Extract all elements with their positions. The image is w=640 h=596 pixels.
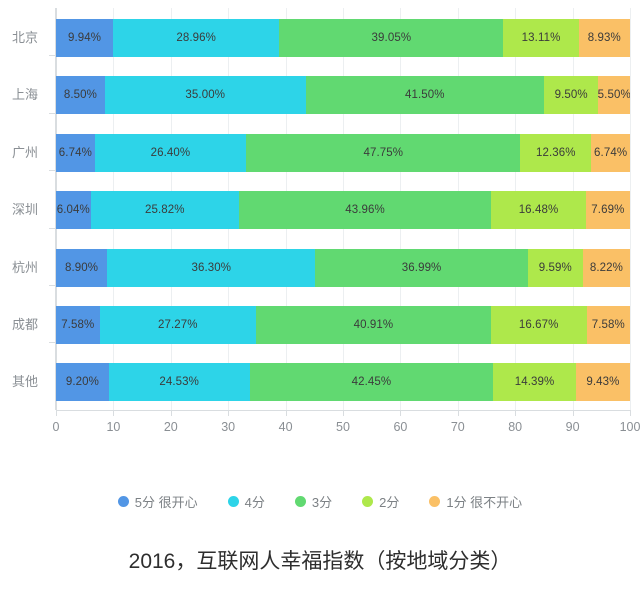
bar-value-label: 6.74% <box>594 147 627 159</box>
bar-value-label: 40.91% <box>354 319 394 331</box>
legend-label: 5分 很开心 <box>135 492 198 511</box>
category-labels: 北京上海广州深圳杭州成都其他 <box>0 8 50 410</box>
legend-label: 1分 很不开心 <box>446 492 522 511</box>
x-axis-tick-label: 10 <box>106 420 120 434</box>
bar-value-label: 7.69% <box>591 204 624 216</box>
legend-swatch-icon <box>118 496 129 507</box>
bar-segment[interactable]: 35.00% <box>105 76 306 114</box>
bar-row: 8.90%36.30%36.99%9.59%8.22% <box>56 249 630 287</box>
category-label-4: 深圳 <box>12 191 38 229</box>
gridline <box>630 8 631 410</box>
bar-segment[interactable]: 28.96% <box>113 19 279 57</box>
bar-row: 7.58%27.27%40.91%16.67%7.58% <box>56 306 630 344</box>
x-axis-tick <box>171 410 172 416</box>
bar-value-label: 43.96% <box>345 204 385 216</box>
bar-segment[interactable]: 36.30% <box>107 249 315 287</box>
legend-swatch-icon <box>295 496 306 507</box>
bar-row: 6.04%25.82%43.96%16.48%7.69% <box>56 191 630 229</box>
bar-segment[interactable]: 8.22% <box>583 249 630 287</box>
bar-value-label: 9.50% <box>555 89 588 101</box>
x-axis-tick <box>573 410 574 416</box>
bar-segment[interactable]: 9.20% <box>56 363 109 401</box>
bar-segment[interactable]: 39.05% <box>279 19 503 57</box>
bar-value-label: 36.99% <box>402 262 442 274</box>
bar-value-label: 24.53% <box>159 376 199 388</box>
y-axis-tick <box>49 113 56 114</box>
bar-value-label: 8.50% <box>64 89 97 101</box>
y-axis-tick <box>49 342 56 343</box>
legend-swatch-icon <box>362 496 373 507</box>
x-axis-tick <box>515 410 516 416</box>
x-axis-tick <box>56 410 57 416</box>
x-axis-tick-label: 50 <box>336 420 350 434</box>
bar-value-label: 35.00% <box>185 89 225 101</box>
bar-segment[interactable]: 24.53% <box>109 363 250 401</box>
x-axis-tick-label: 30 <box>221 420 235 434</box>
bar-value-label: 25.82% <box>145 204 185 216</box>
plot-region: 北京上海广州深圳杭州成都其他 9.94%28.96%39.05%13.11%8.… <box>0 0 640 420</box>
category-label-5: 杭州 <box>12 249 38 287</box>
x-axis-tick-label: 60 <box>393 420 407 434</box>
bar-value-label: 9.43% <box>586 376 619 388</box>
bar-segment[interactable]: 42.45% <box>250 363 494 401</box>
bar-value-label: 14.39% <box>515 376 555 388</box>
bar-value-label: 28.96% <box>176 32 216 44</box>
bar-segment[interactable]: 7.58% <box>587 306 631 344</box>
bar-row: 9.20%24.53%42.45%14.39%9.43% <box>56 363 630 401</box>
bar-value-label: 6.04% <box>57 204 90 216</box>
bar-value-label: 36.30% <box>191 262 231 274</box>
bar-segment[interactable]: 6.04% <box>56 191 91 229</box>
category-label-2: 上海 <box>12 76 38 114</box>
bar-value-label: 13.11% <box>522 32 561 44</box>
bar-segment[interactable]: 41.50% <box>306 76 544 114</box>
x-axis-tick <box>458 410 459 416</box>
category-label-3: 广州 <box>12 134 38 172</box>
category-label-6: 成都 <box>12 306 38 344</box>
bar-segment[interactable]: 13.11% <box>503 19 578 57</box>
bar-segment[interactable]: 25.82% <box>91 191 239 229</box>
legend-item-4[interactable]: 2分 <box>362 492 399 511</box>
legend-item-2[interactable]: 4分 <box>228 492 265 511</box>
bar-segment[interactable]: 7.69% <box>586 191 630 229</box>
x-axis-tick <box>286 410 287 416</box>
x-axis-tick-label: 80 <box>508 420 522 434</box>
x-axis-tick <box>630 410 631 416</box>
bar-segment[interactable]: 6.74% <box>591 134 630 172</box>
category-label-7: 其他 <box>12 363 38 401</box>
chart-legend: 5分 很开心4分3分2分1分 很不开心 <box>0 492 640 511</box>
bar-value-label: 7.58% <box>592 319 625 331</box>
bar-segment[interactable]: 43.96% <box>239 191 491 229</box>
bar-value-label: 7.58% <box>61 319 94 331</box>
bar-value-label: 26.40% <box>151 147 191 159</box>
legend-swatch-icon <box>429 496 440 507</box>
x-axis-tick-label: 100 <box>620 420 640 434</box>
bar-segment[interactable]: 12.36% <box>520 134 591 172</box>
legend-label: 3分 <box>312 492 332 511</box>
bar-value-label: 9.20% <box>66 376 99 388</box>
bar-segment[interactable]: 8.93% <box>579 19 630 57</box>
bar-segment[interactable]: 16.48% <box>491 191 586 229</box>
x-axis-tick-label: 0 <box>53 420 60 434</box>
bar-segment[interactable]: 5.50% <box>598 76 630 114</box>
bar-segment[interactable]: 8.50% <box>56 76 105 114</box>
legend-item-1[interactable]: 5分 很开心 <box>118 492 198 511</box>
bar-segment[interactable]: 6.74% <box>56 134 95 172</box>
y-axis-tick <box>49 170 56 171</box>
bar-segment[interactable]: 9.43% <box>576 363 630 401</box>
bar-value-label: 16.48% <box>519 204 559 216</box>
y-axis-tick <box>49 285 56 286</box>
bar-segment[interactable]: 36.99% <box>315 249 527 287</box>
legend-swatch-icon <box>228 496 239 507</box>
y-axis-tick <box>49 55 56 56</box>
bar-value-label: 16.67% <box>519 319 559 331</box>
bar-value-label: 6.74% <box>59 147 92 159</box>
bar-value-label: 8.22% <box>590 262 623 274</box>
bar-value-label: 5.50% <box>598 89 630 101</box>
x-axis-tick-label: 40 <box>279 420 293 434</box>
bar-segment[interactable]: 8.90% <box>56 249 107 287</box>
bar-value-label: 27.27% <box>158 319 198 331</box>
bar-segment[interactable]: 7.58% <box>56 306 100 344</box>
x-axis-tick <box>400 410 401 416</box>
x-axis-tick <box>113 410 114 416</box>
bar-value-label: 42.45% <box>352 376 392 388</box>
bar-value-label: 41.50% <box>405 89 445 101</box>
bar-segment[interactable]: 9.50% <box>544 76 599 114</box>
bar-segment[interactable]: 16.67% <box>491 306 587 344</box>
bar-segment[interactable]: 40.91% <box>256 306 491 344</box>
bar-row: 9.94%28.96%39.05%13.11%8.93% <box>56 19 630 57</box>
y-axis-tick <box>49 228 56 229</box>
bar-value-label: 9.59% <box>539 262 572 274</box>
bar-segment[interactable]: 47.75% <box>246 134 520 172</box>
bar-segment[interactable]: 9.59% <box>528 249 583 287</box>
bar-value-label: 8.93% <box>588 32 621 44</box>
bar-segment[interactable]: 14.39% <box>493 363 576 401</box>
bar-value-label: 47.75% <box>363 147 403 159</box>
bar-segment[interactable]: 26.40% <box>95 134 247 172</box>
bars-region: 9.94%28.96%39.05%13.11%8.93%8.50%35.00%4… <box>56 8 630 410</box>
bar-row: 6.74%26.40%47.75%12.36%6.74% <box>56 134 630 172</box>
bar-segment[interactable]: 27.27% <box>100 306 257 344</box>
chart-title: 2016，互联网人幸福指数（按地域分类） <box>0 545 640 575</box>
x-axis-tick <box>343 410 344 416</box>
legend-label: 2分 <box>379 492 399 511</box>
x-axis-tick <box>228 410 229 416</box>
stacked-bar-chart: 北京上海广州深圳杭州成都其他 9.94%28.96%39.05%13.11%8.… <box>0 0 640 596</box>
category-label-1: 北京 <box>12 19 38 57</box>
bar-row: 8.50%35.00%41.50%9.50%5.50% <box>56 76 630 114</box>
legend-label: 4分 <box>245 492 265 511</box>
x-axis-tick-label: 70 <box>451 420 465 434</box>
bar-value-label: 39.05% <box>372 32 412 44</box>
bar-value-label: 12.36% <box>536 147 576 159</box>
bar-value-label: 8.90% <box>65 262 98 274</box>
legend-item-5[interactable]: 1分 很不开心 <box>429 492 522 511</box>
bar-value-label: 9.94% <box>68 32 101 44</box>
x-axis-tick-label: 90 <box>566 420 580 434</box>
legend-item-3[interactable]: 3分 <box>295 492 332 511</box>
bar-segment[interactable]: 9.94% <box>56 19 113 57</box>
x-axis-tick-label: 20 <box>164 420 178 434</box>
